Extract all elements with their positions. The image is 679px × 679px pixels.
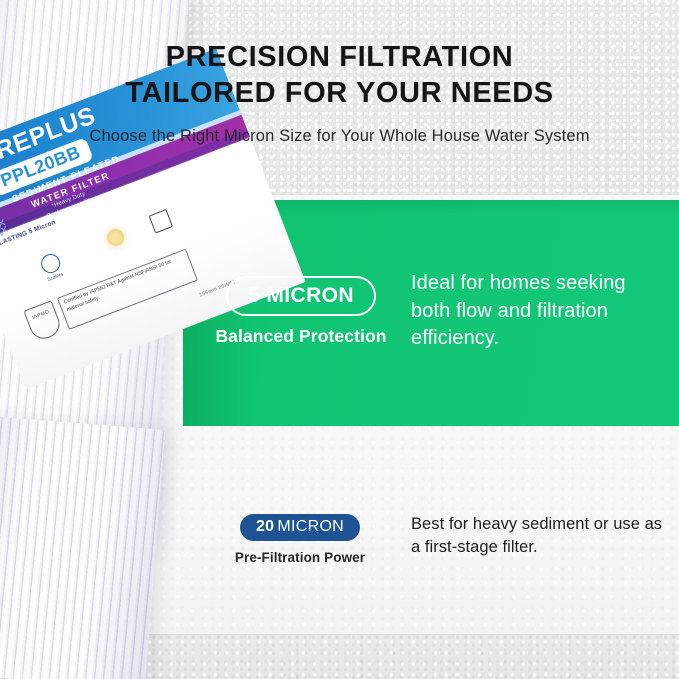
- pleated-media-lower-shading: [0, 414, 165, 679]
- promo-image: PUREPLUS PPL20BB SEDIMENT PLEATED WATER …: [0, 0, 679, 679]
- micron-5-description: Ideal for homes seeking both flow and fi…: [411, 270, 661, 353]
- page-subtitle: Choose the Right Micron Size for Your Wh…: [0, 127, 679, 146]
- micron-20-badge: 20MICRON: [240, 514, 360, 541]
- micron-20-description: Best for heavy sediment or use as a firs…: [411, 513, 666, 560]
- header: PRECISION FILTRATION TAILORED FOR YOUR N…: [0, 0, 679, 190]
- micron-20-badge-subtitle: Pre-Filtration Power: [200, 550, 400, 565]
- page-title-line2: TAILORED FOR YOUR NEEDS: [0, 77, 679, 110]
- page-title-line1: PRECISION FILTRATION: [0, 41, 679, 74]
- micron-20-badge-unit: MICRON: [277, 518, 344, 535]
- micron-20-badge-number: 20: [256, 518, 274, 535]
- micron-5-badge-subtitle: Balanced Protection: [201, 326, 401, 347]
- micron-20-badge-group: 20MICRON Pre-Filtration Power: [200, 514, 400, 565]
- micron-5-badge: 5 MICRON: [226, 276, 376, 316]
- micron-5-badge-group: 5 MICRON Balanced Protection: [201, 276, 401, 347]
